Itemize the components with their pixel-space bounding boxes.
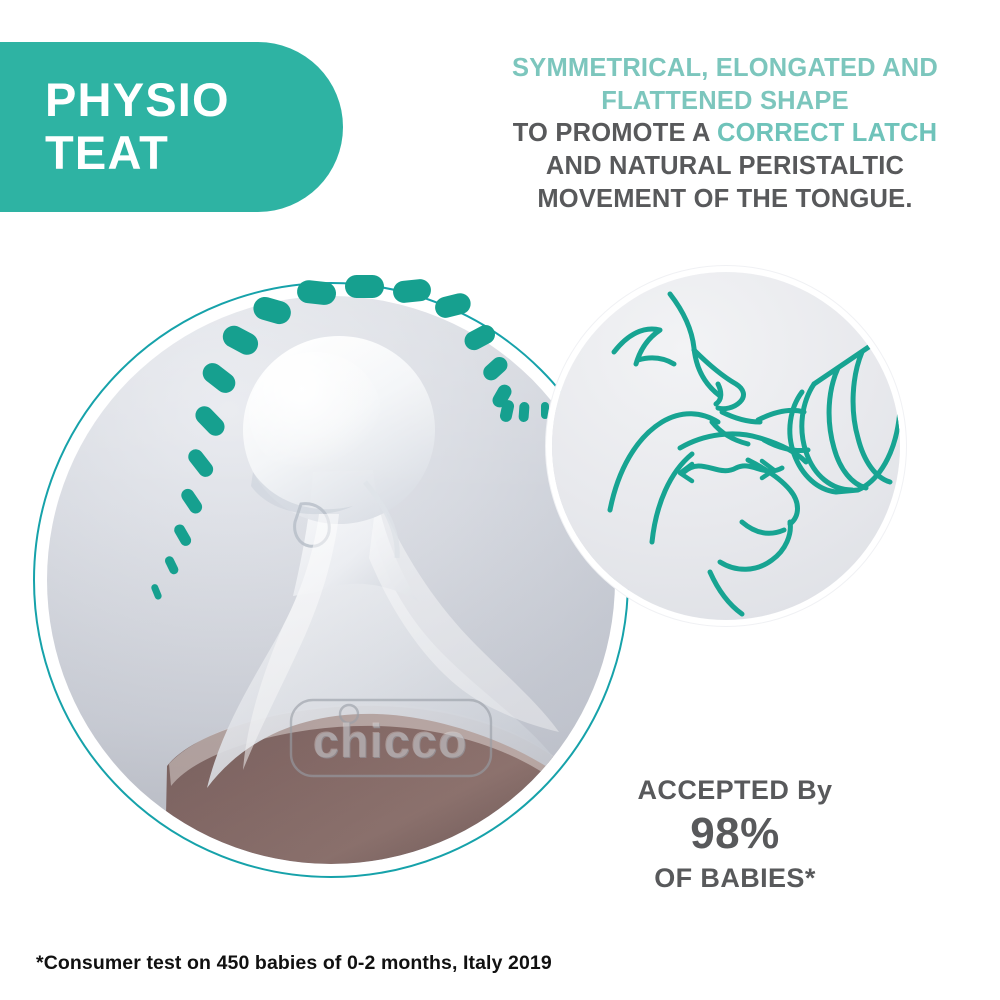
stat-label-bottom: OF BABIES*: [610, 863, 860, 894]
headline-line-2: FLATTENED SHAPE: [470, 85, 980, 118]
badge-line-2: TEAT: [45, 127, 343, 180]
latch-illustration-circle: [552, 272, 900, 620]
acceptance-stat: ACCEPTED By 98% OF BABIES*: [610, 775, 860, 894]
headline-accent-correct-latch: CORRECT LATCH: [717, 119, 937, 147]
physio-teat-badge: PHYSIO TEAT: [0, 42, 343, 212]
headline-line-3-prefix: TO PROMOTE A: [513, 119, 717, 147]
headline-line-4: AND NATURAL PERISTALTIC: [470, 150, 980, 183]
product-photo-circle: chicco chicco: [33, 282, 629, 878]
product-circle-outline: [33, 282, 629, 878]
headline: SYMMETRICAL, ELONGATED AND FLATTENED SHA…: [470, 52, 980, 215]
marketing-page: PHYSIO TEAT SYMMETRICAL, ELONGATED AND F…: [0, 0, 1000, 1000]
baby-latch-line-illustration: [552, 272, 900, 620]
stat-value: 98%: [610, 809, 860, 859]
stat-label-top: ACCEPTED By: [610, 775, 860, 806]
headline-line-1: SYMMETRICAL, ELONGATED AND: [470, 52, 980, 85]
headline-line-5: MOVEMENT OF THE TONGUE.: [470, 183, 980, 216]
footnote-disclaimer: *Consumer test on 450 babies of 0-2 mont…: [36, 952, 552, 975]
badge-line-1: PHYSIO: [45, 74, 343, 127]
headline-line-3: TO PROMOTE A CORRECT LATCH: [470, 117, 980, 150]
